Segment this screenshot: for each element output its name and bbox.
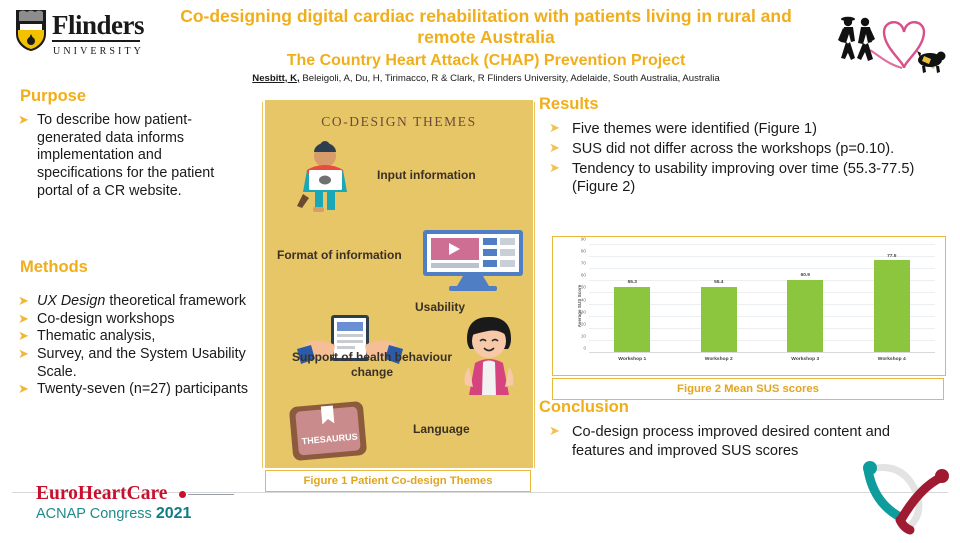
methods-item-text: Twenty-seven (n=27) participants (37, 381, 248, 397)
chart-y-tick-label: 60 (581, 273, 586, 278)
list-item: ➤ To describe how patient-generated data… (18, 112, 250, 200)
purpose-heading: Purpose (20, 88, 86, 105)
figure1-caption-text: Patient Co-design Themes (351, 475, 493, 487)
chart-y-tick-label: 0 (583, 346, 586, 351)
walking-couple-dog-heart-graphic (824, 6, 952, 80)
euroheartcare-wordmark: EuroHeartCare (36, 484, 241, 504)
figure2-caption-text: Mean SUS scores (724, 383, 819, 395)
figure1-theme-label: Support of health behaviour change (277, 350, 467, 380)
chart-bar-value-label: 77.5 (887, 254, 896, 259)
congress-year: 2021 (156, 505, 192, 522)
chart-bar-value-label: 55.4 (714, 280, 723, 285)
list-item: ➤ Tendency to usability improving over t… (545, 160, 945, 198)
arrow-bullet-icon: ➤ (18, 293, 29, 310)
methods-bullet-list: ➤ UX Design theoretical framework ➤ Co-d… (18, 293, 256, 399)
flinders-word-text: Flinders (52, 10, 144, 40)
chart-y-tick-label: 20 (581, 321, 586, 326)
acnap-congress-line: ACNAP Congress 2021 (36, 506, 241, 522)
methods-item-text: Thematic analysis, (37, 328, 155, 344)
chart-y-tick-label: 30 (581, 309, 586, 314)
chart-y-tick-label: 50 (581, 285, 586, 290)
arrow-bullet-icon: ➤ (549, 140, 560, 157)
divider-right-vertical (534, 102, 535, 468)
methods-item-text: Survey, and the System Usability Scale. (37, 346, 246, 380)
poster-subtitle: The Country Heart Attack (CHAP) Preventi… (150, 51, 822, 70)
chart-bar-group: 77.5Workshop 4 (849, 245, 936, 353)
results-item-text: Tendency to usability improving over tim… (572, 161, 914, 196)
euroheartcare-congress-logo: EuroHeartCare ACNAP Congress 2021 (36, 484, 241, 524)
list-item: ➤ Survey, and the System Usability Scale… (18, 346, 256, 381)
results-bullet-list: ➤ Five themes were identified (Figure 1)… (545, 120, 945, 198)
arrow-bullet-icon: ➤ (18, 112, 29, 129)
arrow-bullet-icon: ➤ (549, 120, 560, 137)
arrow-bullet-icon: ➤ (549, 160, 560, 177)
euroheartcare-text: EuroHeartCare (36, 483, 167, 504)
figure1-caption-prefix: Figure 1 (304, 475, 348, 487)
list-item: ➤ SUS did not differ across the workshop… (545, 140, 945, 159)
walkers-heart-icon (824, 6, 952, 80)
chart-bars: 55.3Workshop 155.4Workshop 260.9Workshop… (589, 245, 935, 353)
chart-y-tick-label: 80 (581, 249, 586, 254)
acnap-congress-text: ACNAP Congress (36, 506, 156, 522)
author-affiliations: Beleigoli, A, Du, H, Tirimacco, R & Clar… (300, 73, 720, 84)
chart-bar-group: 60.9Workshop 3 (762, 245, 849, 353)
arrow-bullet-icon: ➤ (18, 311, 29, 328)
chart-bar (614, 287, 650, 353)
euroheartcare-rule-icon (188, 494, 234, 496)
chart-x-tick-label: Workshop 2 (705, 357, 733, 362)
chart-axis-baseline (589, 352, 935, 353)
conclusion-bullet-list: ➤ Co-design process improved desired con… (545, 423, 945, 462)
euroheartcare-dot-icon (179, 491, 186, 498)
methods-item-emphasis: UX Design (37, 293, 105, 309)
chart-x-tick-label: Workshop 1 (618, 357, 646, 362)
methods-heading: Methods (20, 259, 88, 276)
chart-plot-area: 0102030405060708090 55.3Workshop 155.4Wo… (589, 245, 935, 353)
esc-figures-logo (860, 458, 956, 538)
chart-bar-group: 55.3Workshop 1 (589, 245, 676, 353)
list-item: ➤ Co-design workshops (18, 311, 256, 329)
chart-bar-group: 55.4Workshop 2 (676, 245, 763, 353)
poster-title-block: Co-designing digital cardiac rehabilitat… (150, 6, 822, 84)
results-item-text: SUS did not differ across the workshops … (572, 141, 894, 157)
chart-x-tick-label: Workshop 4 (878, 357, 906, 362)
purpose-bullet-list: ➤ To describe how patient-generated data… (18, 112, 250, 200)
chart-y-tick-label: 70 (581, 261, 586, 266)
poster-title: Co-designing digital cardiac rehabilitat… (150, 6, 822, 49)
chart-bar (701, 287, 737, 353)
figure1-caption: Figure 1 Patient Co-design Themes (265, 470, 531, 492)
figure2-sus-bar-chart: Average SUS Score 0102030405060708090 55… (552, 236, 946, 376)
chart-y-tick-label: 40 (581, 297, 586, 302)
purpose-item-text: To describe how patient-generated data i… (37, 112, 214, 199)
methods-item-text: theoretical framework (105, 293, 246, 309)
authors-line: Nesbitt, K, Beleigoli, A, Du, H, Tirimac… (150, 73, 822, 85)
divider-left-vertical (262, 102, 263, 468)
chart-bar-value-label: 60.9 (801, 273, 810, 278)
chart-x-tick-label: Workshop 3 (791, 357, 819, 362)
figure2-caption: Figure 2 Mean SUS scores (552, 378, 944, 400)
lead-author: Nesbitt, K, (252, 73, 299, 84)
results-item-text: Five themes were identified (Figure 1) (572, 121, 817, 137)
flinders-wordmark: Flinders (52, 12, 144, 42)
list-item: ➤ Thematic analysis, (18, 328, 256, 346)
list-item: ➤ UX Design theoretical framework (18, 293, 256, 311)
chart-y-tick-label: 90 (581, 237, 586, 242)
flinders-university-logo: Flinders UNIVERSITY (8, 6, 148, 76)
arrow-bullet-icon: ➤ (549, 423, 560, 440)
arrow-bullet-icon: ➤ (18, 381, 29, 398)
flinders-university-subtext: UNIVERSITY (53, 46, 144, 57)
chart-bar (874, 260, 910, 353)
arrow-bullet-icon: ➤ (18, 328, 29, 345)
arrow-bullet-icon: ➤ (18, 346, 29, 363)
chart-y-tick-label: 10 (581, 333, 586, 338)
figure1-theme-label: Format of information (277, 248, 402, 262)
desktop-monitor-video-icon (423, 230, 523, 292)
figure2-caption-prefix: Figure 2 (677, 383, 721, 395)
figure1-codesign-themes-image: CO-DESIGN THEMES Input information Forma… (265, 100, 533, 468)
figure1-inner-title: CO-DESIGN THEMES (265, 114, 533, 130)
thesaurus-book-icon: THESAURUS (287, 400, 371, 462)
list-item: ➤ Five themes were identified (Figure 1) (545, 120, 945, 139)
conclusion-item-text: Co-design process improved desired conte… (572, 424, 890, 459)
figure1-theme-label: Usability (415, 300, 465, 314)
list-item: ➤ Twenty-seven (n=27) participants (18, 381, 256, 399)
list-item: ➤ Co-design process improved desired con… (545, 423, 945, 461)
esc-abstract-figures-icon (860, 458, 956, 538)
chart-inner: Average SUS Score 0102030405060708090 55… (553, 237, 945, 375)
flinders-underline (52, 40, 140, 42)
person-with-laptop-icon (289, 136, 367, 214)
chart-bar (787, 280, 823, 353)
chart-bar-value-label: 55.3 (628, 280, 637, 285)
methods-item-text: Co-design workshops (37, 311, 174, 327)
results-heading: Results (539, 96, 599, 113)
figure1-theme-label: Input information (377, 168, 476, 182)
figure1-theme-label: Language (413, 422, 470, 436)
flinders-crest-icon (14, 8, 48, 52)
conclusion-heading: Conclusion (539, 399, 629, 416)
